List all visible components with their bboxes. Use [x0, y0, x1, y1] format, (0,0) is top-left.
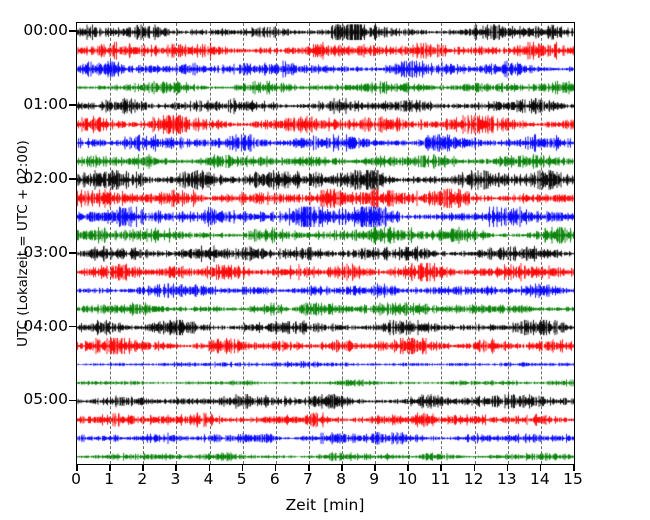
x-tick-label: 14 [530, 470, 550, 488]
seismogram-traces [77, 23, 575, 465]
x-axis-label-main: Zeit [286, 496, 317, 514]
x-tick-label: 15 [563, 470, 583, 488]
y-tick-label: 01:00 [0, 95, 80, 113]
y-tick-label: 02:00 [0, 169, 80, 187]
x-axis-label: Zeit[min] [0, 496, 650, 514]
x-tick-label: 6 [270, 470, 280, 488]
x-tick-label: 3 [170, 470, 180, 488]
x-tick-label: 7 [303, 470, 313, 488]
seismogram-figure: UTC (Lokalzeit = UTC + 02:00) 00:0001:00… [0, 0, 650, 520]
x-axis-label-unit: [min] [323, 496, 364, 514]
x-tick-label: 13 [497, 470, 517, 488]
x-tick-label: 4 [204, 470, 214, 488]
x-tick-label: 11 [431, 470, 451, 488]
x-tick-label: 1 [104, 470, 114, 488]
y-tick-label: 04:00 [0, 317, 80, 335]
x-tick-label: 9 [369, 470, 379, 488]
y-tick-label: 05:00 [0, 390, 80, 408]
plot-area [76, 22, 575, 465]
y-tick-label: 00:00 [0, 21, 80, 39]
x-tick-label: 8 [336, 470, 346, 488]
x-tick-label: 0 [71, 470, 81, 488]
y-tick-label: 03:00 [0, 243, 80, 261]
x-tick-label: 10 [397, 470, 417, 488]
x-tick-label: 2 [137, 470, 147, 488]
x-tick-label: 5 [237, 470, 247, 488]
x-tick-label: 12 [464, 470, 484, 488]
